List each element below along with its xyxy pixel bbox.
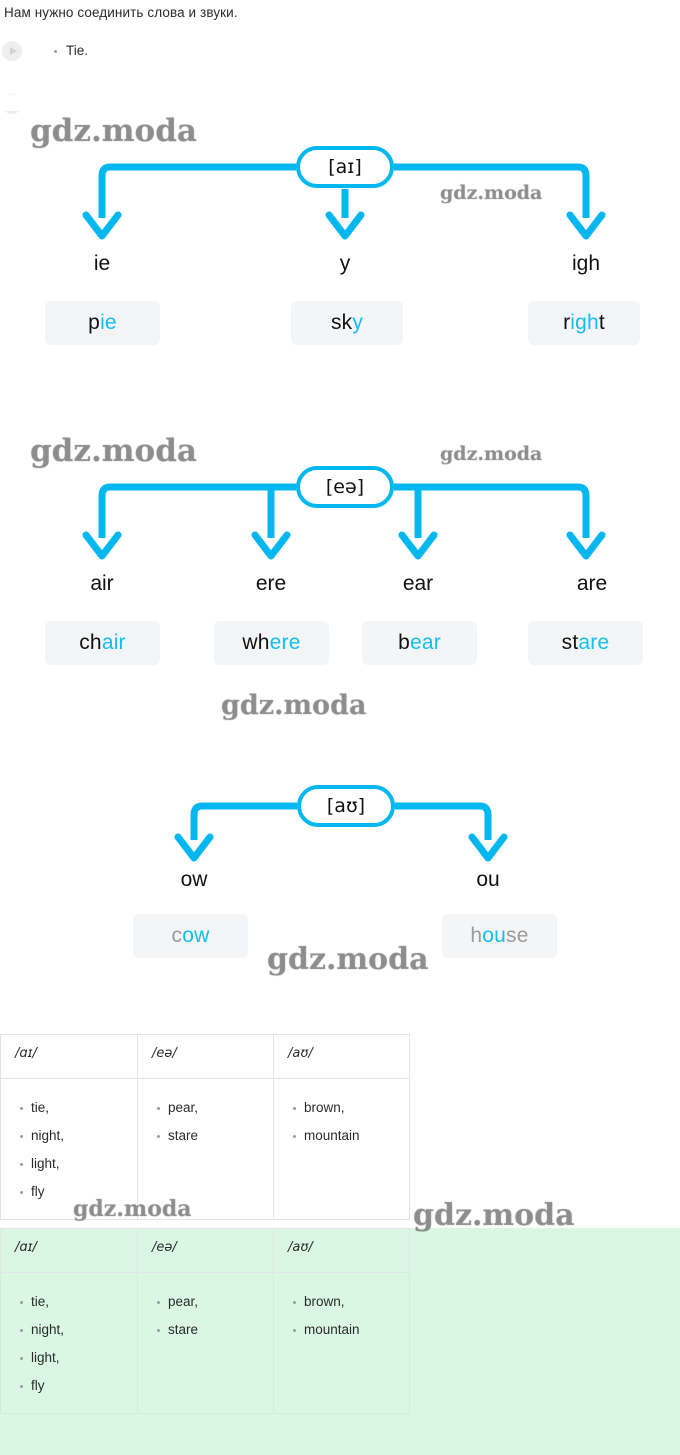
list-item: tie, (31, 1101, 127, 1116)
word-box-house: house (442, 914, 557, 958)
list-item: mountain (304, 1129, 399, 1144)
list-item: pear, (168, 1295, 263, 1310)
list-item: brown, (304, 1101, 399, 1116)
word-box-cow: cow (133, 914, 248, 958)
word-prefix: ch (79, 631, 102, 655)
list-item: night, (31, 1323, 127, 1338)
grapheme-are: are (542, 572, 642, 596)
table-header-row: /ɑɪ/ /eə/ /aʊ/ (1, 1229, 410, 1273)
grapheme-air: air (52, 572, 152, 596)
table-cell-au: brown, mountain (274, 1079, 410, 1220)
word-prefix: c (172, 924, 183, 948)
table-row: tie, night, light, fly pear, stare brown… (1, 1079, 410, 1220)
ea-diagram: [eə] air ere ear are chair where bear st… (0, 430, 680, 680)
image-overlay-mask (0, 95, 680, 111)
sound-node-ai: [aɪ] (296, 146, 394, 188)
word-highlight: ear (410, 631, 441, 655)
word-prefix: wh (242, 631, 269, 655)
word-box-stare: stare (528, 621, 643, 665)
worksheet-page: Нам нужно соединить слова и звуки. Tie. … (0, 0, 680, 1455)
list-item: light, (31, 1351, 127, 1366)
word-highlight: ou (482, 924, 506, 948)
word-suffix: t (599, 311, 605, 335)
word-list-au: brown, mountain (288, 1101, 399, 1144)
list-item: fly (31, 1379, 127, 1394)
grapheme-ou: ou (438, 868, 538, 892)
sound-node-au: [aʊ] (297, 785, 395, 827)
word-box-bear: bear (362, 621, 477, 665)
word-highlight: y (352, 311, 363, 335)
word-list-ea: pear, stare (152, 1295, 263, 1338)
watermark: gdz.moda (221, 690, 366, 721)
grapheme-igh: igh (536, 252, 636, 276)
list-item: brown, (304, 1295, 399, 1310)
page-instruction: Нам нужно соединить слова и звуки. (4, 5, 238, 20)
word-list-ai: tie, night, light, fly (15, 1295, 127, 1393)
table-header-au: /aʊ/ (274, 1229, 410, 1273)
word-box-right: right (528, 301, 640, 345)
list-item: stare (168, 1129, 263, 1144)
word-prefix: h (470, 924, 482, 948)
table-header-ai: /ɑɪ/ (1, 1229, 138, 1273)
table-header-ai: /ɑɪ/ (1, 1035, 138, 1079)
grapheme-y: y (295, 252, 395, 276)
word-list-ai: tie, night, light, fly (15, 1101, 127, 1199)
table-cell-ea: pear, stare (138, 1273, 274, 1414)
word-highlight: are (578, 631, 609, 655)
table-cell-ai: tie, night, light, fly (1, 1079, 138, 1220)
answer-table-highlighted: /ɑɪ/ /eə/ /aʊ/ tie, night, light, fly pe… (0, 1228, 410, 1414)
word-highlight: ere (270, 631, 301, 655)
grapheme-ere: ere (221, 572, 321, 596)
word-prefix: sk (331, 311, 352, 335)
word-prefix: r (563, 311, 570, 335)
ai-diagram: [aɪ] ie y igh pie sky right (0, 110, 680, 360)
word-highlight: air (102, 631, 126, 655)
list-item: light, (31, 1157, 127, 1172)
table-cell-ai: tie, night, light, fly (1, 1273, 138, 1414)
word-item-tie: Tie. (66, 43, 88, 58)
word-highlight: ow (182, 924, 209, 948)
sound-node-ea: [eə] (296, 466, 394, 508)
grapheme-ie: ie (52, 252, 152, 276)
list-item: stare (168, 1323, 263, 1338)
word-suffix: se (506, 924, 529, 948)
word-highlight: ie (100, 311, 117, 335)
word-highlight: igh (570, 311, 599, 335)
list-item: pear, (168, 1101, 263, 1116)
word-prefix: st (562, 631, 579, 655)
list-item: night, (31, 1129, 127, 1144)
table-header-ea: /eə/ (138, 1035, 274, 1079)
table-header-row: /ɑɪ/ /eə/ /aʊ/ (1, 1035, 410, 1079)
word-box-sky: sky (291, 301, 403, 345)
au-diagram: [aʊ] ow ou cow house (0, 760, 680, 980)
table-row: tie, night, light, fly pear, stare brown… (1, 1273, 410, 1414)
table-cell-au: brown, mountain (274, 1273, 410, 1414)
grapheme-ow: ow (144, 868, 244, 892)
word-list-au: brown, mountain (288, 1295, 399, 1338)
list-item: tie, (31, 1295, 127, 1310)
word-prefix: b (398, 631, 410, 655)
word-prefix: p (88, 311, 100, 335)
list-item: fly (31, 1185, 127, 1200)
table-header-ea: /eə/ (138, 1229, 274, 1273)
word-box-pie: pie (45, 301, 160, 345)
word-list-ea: pear, stare (152, 1101, 263, 1144)
word-box-chair: chair (45, 621, 160, 665)
word-box-where: where (214, 621, 329, 665)
answer-table-plain: /ɑɪ/ /eə/ /aʊ/ tie, night, light, fly pe… (0, 1034, 410, 1220)
list-item: mountain (304, 1323, 399, 1338)
play-icon[interactable] (2, 41, 22, 61)
table-cell-ea: pear, stare (138, 1079, 274, 1220)
table-header-au: /aʊ/ (274, 1035, 410, 1079)
grapheme-ear: ear (368, 572, 468, 596)
